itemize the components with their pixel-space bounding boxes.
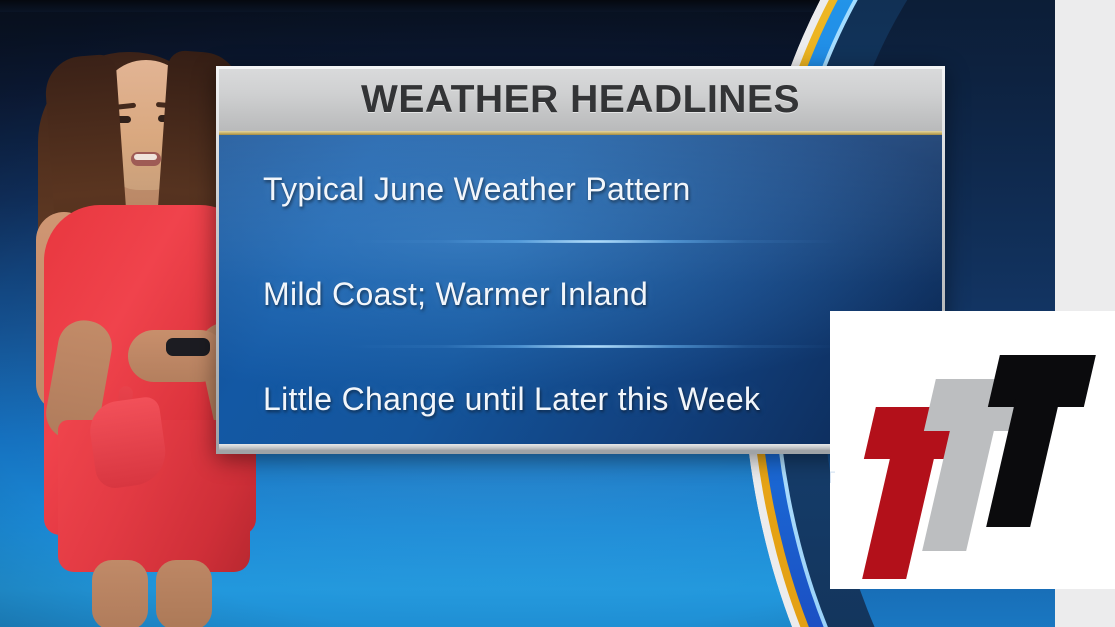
occluded-text-fragment: T xyxy=(830,468,835,488)
broadcast-screenshot: WEATHER HEADLINES Typical June Weather P… xyxy=(0,0,1115,627)
anchor-leg-left xyxy=(92,560,148,627)
anchor-teeth xyxy=(134,154,157,160)
triple-t-logo-icon xyxy=(856,355,1088,535)
station-logo-overlay: T xyxy=(830,311,1115,589)
anchor-remote-clicker xyxy=(166,338,210,356)
anchor-leg-right xyxy=(156,560,212,627)
logo-t-black-stem xyxy=(986,399,1060,527)
